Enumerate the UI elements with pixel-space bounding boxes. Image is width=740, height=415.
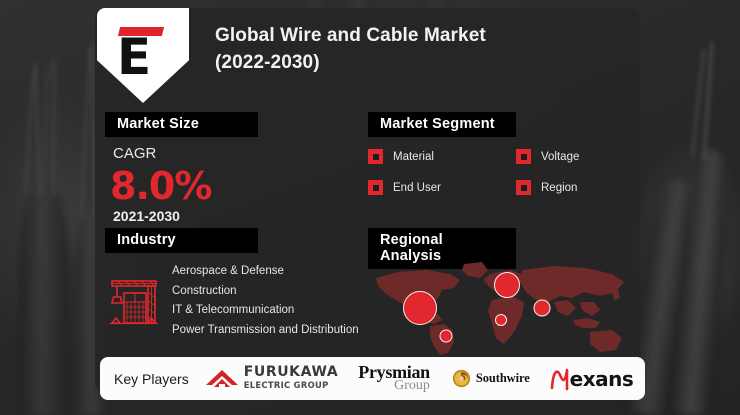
cagr-period: 2021-2030 — [113, 208, 355, 224]
list-item: Power Transmission and Distribution — [172, 321, 359, 341]
furukawa-sub: ELECTRIC GROUP — [244, 380, 329, 390]
bullet-square-icon — [368, 149, 383, 164]
construction-crane-icon — [108, 272, 166, 330]
cagr-value: 8.0% — [110, 166, 355, 206]
title-line-2: (2022-2030) — [215, 49, 555, 76]
bullet-square-icon — [516, 180, 531, 195]
world-map — [368, 258, 640, 355]
cagr-label: CAGR — [113, 145, 355, 162]
southwire-name: Southwire — [476, 371, 530, 386]
logo-southwire: Southwire — [452, 369, 530, 388]
map-bubble-asia-pacific — [534, 300, 551, 317]
nexans-name: exans — [570, 367, 634, 391]
map-bubble-mea — [495, 314, 507, 326]
regional-analysis-section: Regional Analysis — [368, 228, 636, 269]
furukawa-name: FURUKAWA — [244, 364, 339, 380]
title-line-1: Global Wire and Cable Market — [215, 22, 555, 49]
industry-section: Industry — [105, 228, 395, 340]
bullet-square-icon — [516, 149, 531, 164]
list-item: Construction — [172, 282, 359, 302]
key-players-bar: Key Players FURUKAWA ELECTRIC GROUP Prys… — [100, 357, 645, 400]
list-item: IT & Telecommunication — [172, 301, 359, 321]
bullet-square-icon — [368, 180, 383, 195]
market-size-section: Market Size CAGR 8.0% 2021-2030 — [105, 112, 355, 224]
industry-header: Industry — [105, 228, 258, 253]
market-segment-section: Market Segment Material Voltage End User… — [368, 112, 613, 195]
segment-label: Voltage — [541, 151, 579, 163]
logo-prysmian: Prysmian Group — [358, 365, 430, 393]
southwire-mark-icon — [452, 369, 471, 388]
segment-label: Region — [541, 182, 577, 194]
segment-item-material: Material — [368, 149, 516, 164]
map-bubble-europe — [494, 272, 520, 298]
key-players-label: Key Players — [114, 371, 189, 387]
list-item: Aerospace & Defense — [172, 262, 359, 282]
furukawa-mark-icon — [205, 368, 239, 390]
segment-label: Material — [393, 151, 434, 163]
logo-nexans: exans — [550, 366, 634, 392]
market-size-header: Market Size — [105, 112, 258, 137]
segment-item-region: Region — [516, 180, 613, 195]
market-segment-header: Market Segment — [368, 112, 516, 137]
segment-label: End User — [393, 182, 441, 194]
segment-item-end-user: End User — [368, 180, 516, 195]
logo-letter: E — [117, 34, 150, 80]
map-bubble-south-america — [440, 330, 453, 343]
logo-furukawa: FURUKAWA ELECTRIC GROUP — [205, 366, 339, 391]
industry-list: Aerospace & Defense Construction IT & Te… — [172, 262, 359, 340]
segment-item-voltage: Voltage — [516, 149, 613, 164]
map-bubble-north-america — [403, 291, 437, 325]
page-title: Global Wire and Cable Market (2022-2030) — [215, 22, 555, 76]
